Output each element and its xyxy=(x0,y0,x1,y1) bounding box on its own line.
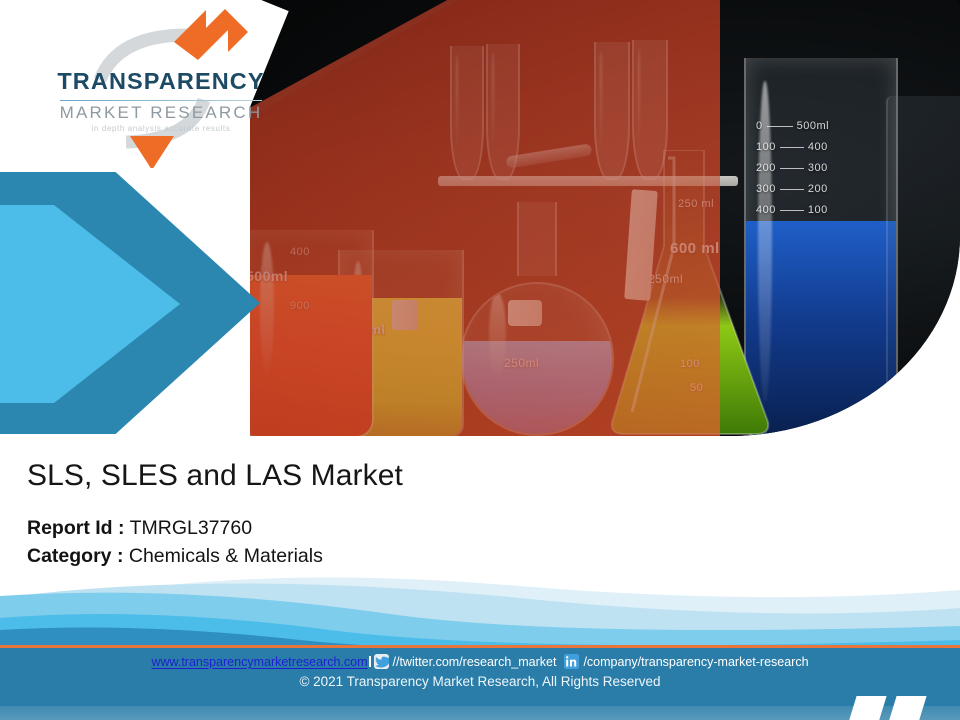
twitter-bird-icon[interactable] xyxy=(374,654,389,669)
report-id-label: Report Id : xyxy=(27,517,125,539)
laboratory-glassware-photo: 0500ml 100400 200300 300200 400100 xyxy=(250,0,960,436)
arrow-down-icon xyxy=(130,136,174,168)
logo-tagline: in depth analysis accurate results xyxy=(56,124,266,133)
footer-bar: www.transparencymarketresearch.com //twi… xyxy=(0,648,960,720)
report-id-value: TMRGL37760 xyxy=(130,517,252,539)
logo-divider xyxy=(60,100,262,101)
background-flask xyxy=(886,96,960,436)
footer-links: www.transparencymarketresearch.com //twi… xyxy=(0,654,960,669)
logo-text-transparency: TRANSPARENCY xyxy=(56,68,266,95)
page-title: SLS, SLES and LAS Market xyxy=(27,459,587,494)
linkedin-handle[interactable]: /company/transparency-market-research xyxy=(583,655,808,669)
website-link[interactable]: www.transparencymarketresearch.com xyxy=(151,655,367,669)
separator-bar xyxy=(369,656,371,667)
copyright-text: © 2021 Transparency Market Research, All… xyxy=(0,674,960,689)
hero-image-container: 0500ml 100400 200300 300200 400100 xyxy=(250,0,960,436)
linkedin-icon[interactable] xyxy=(564,654,579,669)
wave-decoration xyxy=(0,556,960,648)
company-logo[interactable]: TRANSPARENCY MARKET RESEARCH in depth an… xyxy=(22,8,282,168)
report-id-row: Report Id : TMRGL37760 xyxy=(27,515,457,543)
twitter-handle[interactable]: //twitter.com/research_market xyxy=(393,655,557,669)
graduation-row: 0500ml xyxy=(756,120,829,132)
logo-text-market-research: MARKET RESEARCH xyxy=(56,103,266,123)
report-cover-slide: 0500ml 100400 200300 300200 400100 xyxy=(0,0,960,720)
arrow-up-right-icon xyxy=(174,9,248,60)
footer-gloss xyxy=(0,706,960,720)
